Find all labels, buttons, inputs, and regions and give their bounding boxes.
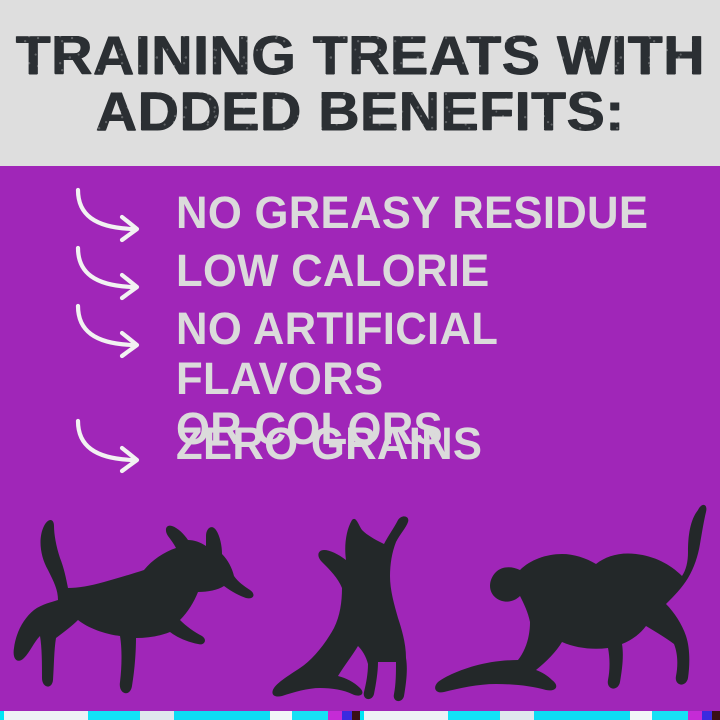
curved-arrow-right-icon xyxy=(72,300,164,362)
curved-arrow-right-icon xyxy=(72,242,164,304)
list-item-label: ZERO GRAINS xyxy=(176,419,482,469)
strip-segment xyxy=(652,711,688,720)
package-edge-color-strip xyxy=(0,711,720,720)
headline-line-2: ADDED BENEFITS: xyxy=(96,83,625,139)
strip-segment xyxy=(712,711,720,720)
strip-segment xyxy=(352,711,360,720)
strip-segment xyxy=(688,711,702,720)
strip-segment xyxy=(364,711,448,720)
strip-segment xyxy=(448,711,500,720)
strip-segment xyxy=(342,711,352,720)
strip-segment xyxy=(270,711,292,720)
headline-line-1: TRAINING TREATS WITH xyxy=(15,27,704,83)
strip-segment xyxy=(140,711,174,720)
curved-arrow-right-icon xyxy=(72,415,164,477)
curved-arrow-right-icon xyxy=(72,184,164,246)
dog-silhouette-group xyxy=(0,500,720,712)
strip-segment xyxy=(328,711,342,720)
product-feature-graphic: TRAINING TREATS WITH ADDED BENEFITS: NO … xyxy=(0,0,720,720)
strip-segment xyxy=(702,711,712,720)
strip-segment xyxy=(174,711,270,720)
strip-segment xyxy=(88,711,140,720)
strip-segment xyxy=(630,711,652,720)
list-item-label: NO GREASY RESIDUE xyxy=(176,188,648,238)
strip-segment xyxy=(500,711,534,720)
strip-half-left xyxy=(0,711,360,720)
benefits-list: NO GREASY RESIDUE LOW CALORIE NO ARTIFIC… xyxy=(0,166,720,506)
strip-half-right xyxy=(360,711,720,720)
headline-block: TRAINING TREATS WITH ADDED BENEFITS: xyxy=(0,0,720,166)
list-item-label: LOW CALORIE xyxy=(176,246,490,296)
strip-segment xyxy=(4,711,88,720)
strip-segment xyxy=(534,711,630,720)
dog-playing-silhouette xyxy=(8,512,308,712)
dog-stretching-silhouette xyxy=(430,500,720,712)
strip-segment xyxy=(292,711,328,720)
